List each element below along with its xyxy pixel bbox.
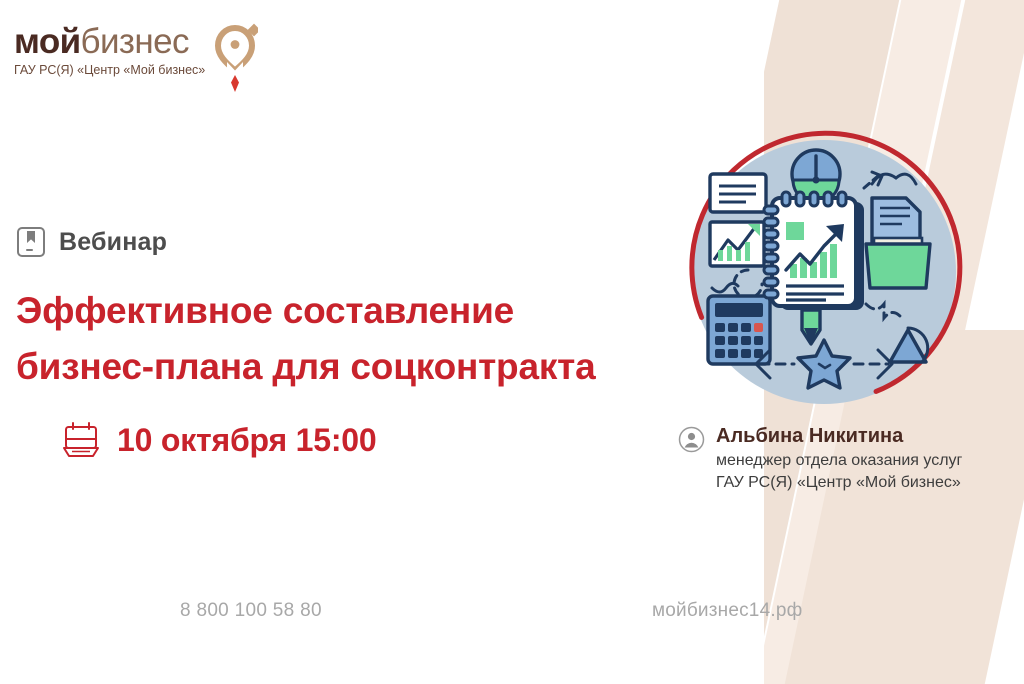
calendar-icon [62, 420, 100, 460]
logo: мойбизнес ГАУ РС(Я) «Центр «Мой бизнес» [14, 24, 258, 94]
bookmark-box-icon [16, 226, 46, 258]
user-avatar-icon [678, 424, 705, 453]
logo-subtitle: ГАУ РС(Я) «Центр «Мой бизнес» [14, 63, 205, 77]
webinar-announcement-banner: мойбизнес ГАУ РС(Я) «Центр «Мой бизнес» … [0, 0, 1024, 684]
speaker-block: Альбина Никитина менеджер отдела оказани… [678, 424, 962, 495]
event-datetime-label: 10 октября 15:00 [117, 422, 377, 459]
logo-text: мойбизнес ГАУ РС(Я) «Центр «Мой бизнес» [14, 24, 205, 77]
speaker-role-line-1: менеджер отдела оказания услуг [716, 450, 962, 473]
headline-line-2: бизнес-плана для соцконтракта [16, 339, 656, 395]
footer-phone: 8 800 100 58 80 [180, 600, 322, 622]
speaker-role-line-2: ГАУ РС(Я) «Центр «Мой бизнес» [716, 472, 962, 495]
logo-word-light: бизнес [81, 22, 189, 61]
headline-line-1: Эффективное составление [16, 283, 656, 339]
logo-word-dark: мой [14, 22, 81, 61]
rocket-pin-icon [214, 22, 258, 94]
webinar-label: Вебинар [59, 228, 167, 257]
footer-website: мойбизнес14.рф [652, 600, 802, 622]
page-title: Эффективное составление бизнес-плана для… [16, 283, 656, 395]
webinar-badge: Вебинар [16, 226, 167, 258]
event-datetime: 10 октября 15:00 [62, 420, 377, 460]
business-plan-illustration [676, 118, 972, 414]
speaker-name: Альбина Никитина [716, 424, 962, 450]
document-card-icon [710, 174, 766, 212]
bar-chart-icon [710, 222, 764, 266]
speaker-details: Альбина Никитина менеджер отдела оказани… [716, 424, 962, 495]
folder-icon [866, 198, 930, 288]
logo-wordmark: мойбизнес [14, 24, 205, 60]
calculator-icon [708, 296, 770, 364]
